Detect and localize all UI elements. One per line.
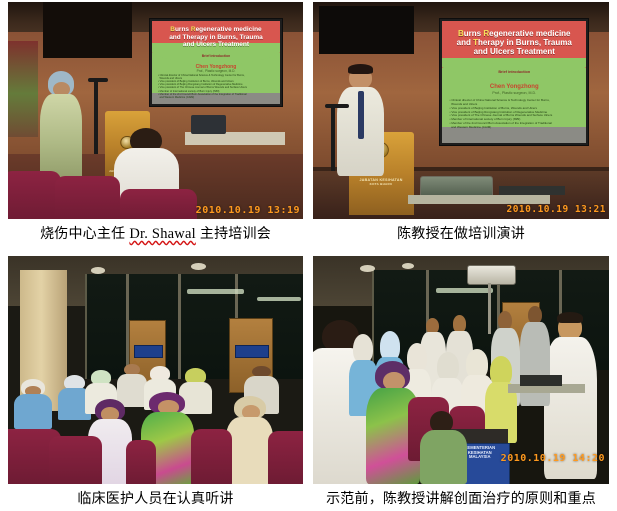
clothing: [226, 417, 273, 484]
slide-title-l1d: egenerative medicine: [196, 26, 262, 33]
face: [453, 315, 466, 332]
ceiling-tube-light: [257, 297, 301, 301]
audience-member: [226, 396, 273, 484]
caption-top-right-text: 陈教授在做培训演讲: [397, 225, 525, 241]
slide-title-l2: and Therapy in Burns, Trauma: [169, 34, 263, 41]
caption-tl-zh-tail: 主持培训会: [196, 225, 271, 241]
slide-affiliation: Prof., Plastic surgeon, M.D.: [164, 69, 267, 73]
door-sign: [235, 345, 268, 359]
seat: [191, 429, 232, 484]
photo-top-left: Burns Regenerative medicine and Therapy …: [8, 2, 303, 219]
caption-top-right: 陈教授在做培训演讲: [313, 224, 609, 243]
microphone-head-icon: [88, 78, 109, 82]
face: [498, 311, 512, 330]
slide-bullets: • Clinical director of China National Sc…: [449, 99, 579, 129]
slide-title: Burns Regenerative medicine and Therapy …: [158, 26, 274, 48]
hair: [557, 312, 584, 323]
slide-subtitle: Brief introduction: [457, 70, 572, 74]
hijab: [380, 331, 400, 361]
speaker-person: [337, 67, 384, 176]
projection-screen: Burns Regenerative medicine and Therapy …: [440, 19, 588, 145]
slide-title-l3: and Ulcers Treatment: [474, 47, 555, 56]
seat: [120, 189, 197, 219]
door-sign: [134, 345, 163, 358]
slide-title-l1b: urns: [175, 26, 191, 33]
seat: [49, 436, 102, 484]
caption-bottom-right: 示范前，陈教授讲解创面治疗的原则和重点: [313, 489, 609, 508]
photo-top-left-image: Burns Regenerative medicine and Therapy …: [8, 2, 303, 219]
projector-cart: [408, 195, 550, 204]
dark-ceiling-panel: [319, 6, 414, 54]
microphone-stand: [331, 106, 335, 171]
podium-label: JABATAN KESIHATAN KOTA BHARU: [351, 178, 411, 187]
caption-tl-zh-head: 烧伤中心主任: [40, 225, 129, 241]
hijab: [437, 352, 459, 381]
photo-grid: Burns Regenerative medicine and Therapy …: [0, 0, 617, 511]
ceiling-light: [191, 263, 206, 270]
presentation-slide: Burns Regenerative medicine and Therapy …: [152, 21, 281, 104]
ceiling-light: [360, 265, 375, 272]
bending-attendee: [420, 411, 467, 484]
audience-member: [14, 379, 52, 429]
shirt: [520, 322, 550, 406]
audience: [8, 375, 303, 484]
photo-bottom-left: [8, 256, 303, 484]
photo-timestamp: 2010.10.19 13:21: [506, 204, 606, 215]
ceiling-light: [402, 263, 414, 269]
ceiling-tube-light: [436, 288, 493, 293]
av-equipment: [191, 115, 226, 135]
uniform: [14, 394, 52, 429]
slide-subtitle: Brief introduction: [164, 54, 267, 58]
seat: [55, 176, 120, 219]
equipment-table: [185, 132, 285, 145]
photo-bottom-left-image: [8, 256, 303, 484]
presentation-slide: Burns Regenerative medicine and Therapy …: [442, 21, 586, 143]
photo-bottom-right-image: KEMENTERIAN KESIHATAN MALAYSIA 2010.10.1…: [313, 256, 609, 484]
slide-bullets: • Clinical director of China National Sc…: [158, 74, 274, 100]
ceiling-projector: [467, 265, 516, 285]
poster-line3: MALAYSIA: [469, 454, 490, 459]
caption-bottom-right-text: 示范前，陈教授讲解创面治疗的原则和重点: [326, 490, 596, 506]
photo-bottom-right: KEMENTERIAN KESIHATAN MALAYSIA 2010.10.1…: [313, 256, 609, 484]
photo-top-right-image: Burns Regenerative medicine and Therapy …: [313, 2, 609, 219]
seat: [8, 171, 61, 219]
seat: [126, 440, 156, 484]
hijab: [353, 334, 373, 364]
microphone-head-icon: [325, 104, 349, 108]
slide-title-l2c: herapy in Burns, Trauma: [478, 38, 572, 47]
necktie: [358, 91, 363, 139]
slide-title-l3: and Ulcers Treatment: [183, 41, 249, 48]
caption-tl-name: Dr. Shawal: [129, 226, 195, 242]
dark-ceiling-panel: [43, 2, 132, 58]
slide-title-l1d: egenerative medicine: [489, 29, 570, 38]
laptop: [499, 186, 564, 195]
slide-title: Burns Regenerative medicine and Therapy …: [449, 29, 579, 57]
seat: [268, 431, 303, 484]
hair: [348, 64, 373, 74]
clothing: [420, 430, 467, 484]
microphone-stand: [94, 80, 98, 154]
photo-top-right: Burns Regenerative medicine and Therapy …: [313, 2, 609, 219]
window-mullion: [178, 274, 181, 379]
slide-affiliation: Prof., Plastic surgeon, M.D.: [457, 91, 572, 95]
slide-title-l2a: and: [457, 38, 473, 47]
photo-collage-document: Burns Regenerative medicine and Therapy …: [0, 0, 617, 511]
ceiling-tube-light: [187, 289, 244, 294]
caption-bottom-left: 临床医护人员在认真听讲: [8, 489, 303, 508]
slide-presenter: Chen Yongzhong: [457, 84, 572, 90]
caption-top-left-text: 烧伤中心主任 Dr. Shawal 主持培训会: [40, 225, 271, 241]
laptop: [520, 375, 561, 386]
speaker-person: [38, 71, 85, 184]
caption-top-left: 烧伤中心主任 Dr. Shawal 主持培训会: [8, 224, 303, 243]
photo-timestamp: 2010.10.19 13:19: [196, 205, 300, 216]
photo-timestamp: 2010.10.19 14:20: [501, 453, 605, 464]
slide-bottom-band: [442, 127, 586, 143]
slide-title-l1b: urns: [464, 29, 484, 38]
projection-screen: Burns Regenerative medicine and Therapy …: [150, 19, 283, 106]
podium-label-line2: KOTA BHARU: [370, 182, 393, 186]
caption-bottom-left-text: 临床医护人员在认真听讲: [77, 490, 233, 506]
side-banner: [8, 41, 38, 136]
